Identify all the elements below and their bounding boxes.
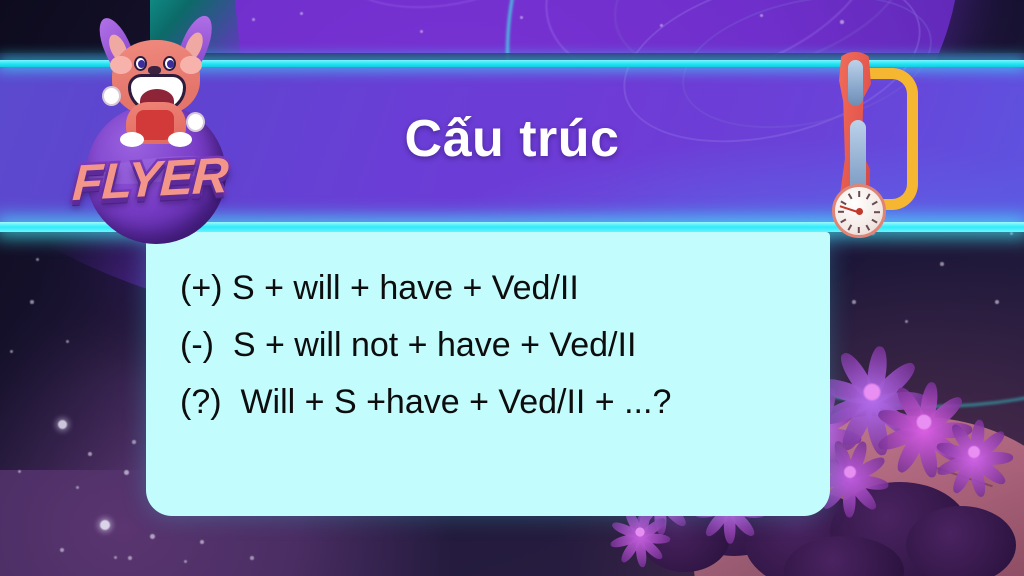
mascot-pupil [138, 60, 145, 68]
fox-mascot-icon [86, 12, 226, 142]
gauge-tick [840, 219, 846, 223]
star-icon [132, 440, 136, 444]
structure-line: (+) S + will + have + Ved/II [180, 260, 810, 317]
structure-line-list: (+) S + will + have + Ved/II(-) S + will… [180, 260, 810, 431]
structure-line: (?) Will + S +have + Ved/II + ...? [180, 374, 810, 431]
star-icon [100, 520, 110, 530]
star-icon [520, 16, 523, 19]
gauge-tick [848, 193, 852, 199]
structure-line: (-) S + will not + have + Ved/II [180, 317, 810, 374]
star-icon [114, 556, 117, 559]
mascot-eye-left [134, 56, 147, 71]
palm-core [635, 527, 644, 536]
star-icon [150, 534, 155, 539]
flyer-logo[interactable]: FLYER [52, 8, 248, 240]
mascot-eye-right [163, 56, 176, 71]
star-icon [10, 350, 13, 353]
rocket-window-top [848, 60, 863, 106]
star-icon [66, 340, 69, 343]
star-icon [76, 486, 79, 489]
star-icon [184, 560, 187, 563]
slide-canvas: Cấu trúc (+) S + will + have + Ved/II(-)… [0, 0, 1024, 576]
gauge-tick [838, 211, 844, 213]
mascot-hand-right [186, 112, 205, 132]
star-icon [124, 470, 129, 475]
palm-core [864, 384, 881, 401]
gauge-tick [872, 201, 878, 205]
star-icon [252, 18, 255, 21]
star-icon [30, 300, 34, 304]
mascot-cheek-left [110, 56, 132, 74]
mascot-cheek-right [180, 56, 202, 74]
rocket-icon [826, 52, 926, 242]
mascot-pupil [167, 60, 174, 68]
mascot-hand-left [102, 86, 121, 106]
gauge-tick [858, 191, 860, 197]
content-panel: (+) S + will + have + Ved/II(-) S + will… [146, 232, 830, 516]
star-icon [58, 420, 67, 429]
star-icon [60, 548, 64, 552]
palm-core [844, 466, 856, 478]
star-icon [1010, 232, 1013, 235]
star-icon [128, 556, 132, 560]
star-icon [88, 452, 92, 456]
gauge-icon [832, 184, 886, 238]
palm-core [917, 415, 932, 430]
gauge-tick [872, 219, 878, 223]
star-icon [300, 12, 303, 15]
palm-core [968, 446, 980, 458]
brand-wordmark: FLYER [53, 145, 248, 213]
star-icon [420, 30, 423, 33]
gauge-tick [866, 225, 870, 231]
gauge-tick [858, 227, 860, 233]
gauge-tick [874, 211, 880, 213]
star-icon [200, 540, 204, 544]
mascot-foot-right [168, 132, 192, 147]
foliage-bush [906, 506, 1016, 576]
gauge-tick [848, 225, 852, 231]
star-icon [36, 258, 39, 261]
mascot-foot-left [120, 132, 144, 147]
gauge-tick [866, 193, 870, 199]
star-icon [18, 470, 21, 473]
star-icon [250, 556, 254, 560]
gauge-hub [856, 208, 863, 215]
star-icon [940, 262, 944, 266]
